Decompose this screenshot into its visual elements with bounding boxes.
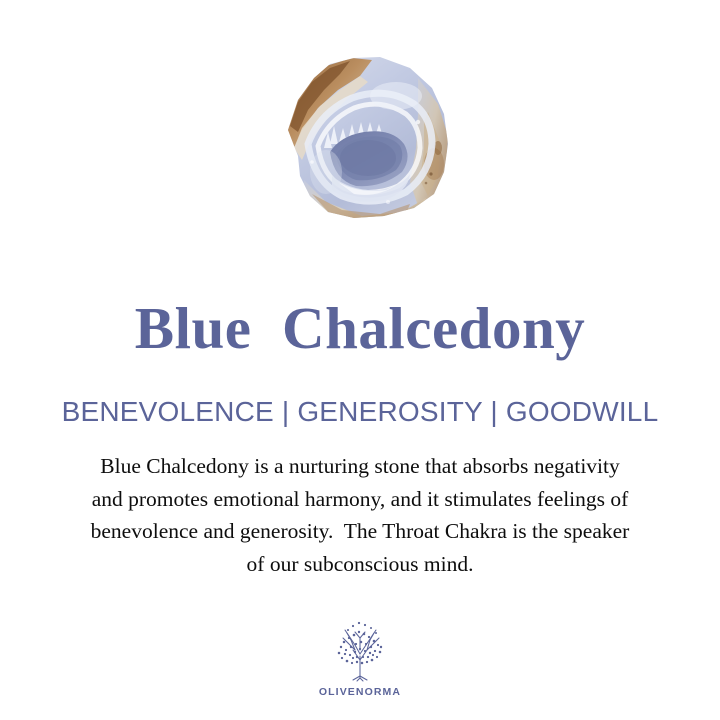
page-title: Blue Chalcedony: [0, 296, 720, 360]
keyword-subtitle: BENEVOLENCE | GENEROSITY | GOODWILL: [0, 396, 720, 428]
brand-name: OLIVENORMA: [319, 686, 401, 698]
description-line: of our subconscious mind.: [18, 548, 702, 581]
blue-chalcedony-icon: [268, 52, 454, 224]
description-line: benevolence and generosity. The Throat C…: [18, 515, 702, 548]
description-line: and promotes emotional harmony, and it s…: [18, 483, 702, 516]
description-line: Blue Chalcedony is a nurturing stone tha…: [18, 450, 702, 483]
product-info-card: Blue Chalcedony BENEVOLENCE | GENEROSITY…: [0, 0, 720, 720]
tree-of-life-icon: [324, 616, 396, 682]
gemstone-image: [268, 52, 454, 224]
brand-logo: OLIVENORMA: [0, 616, 720, 698]
description-paragraph: Blue Chalcedony is a nurturing stone tha…: [18, 450, 702, 580]
